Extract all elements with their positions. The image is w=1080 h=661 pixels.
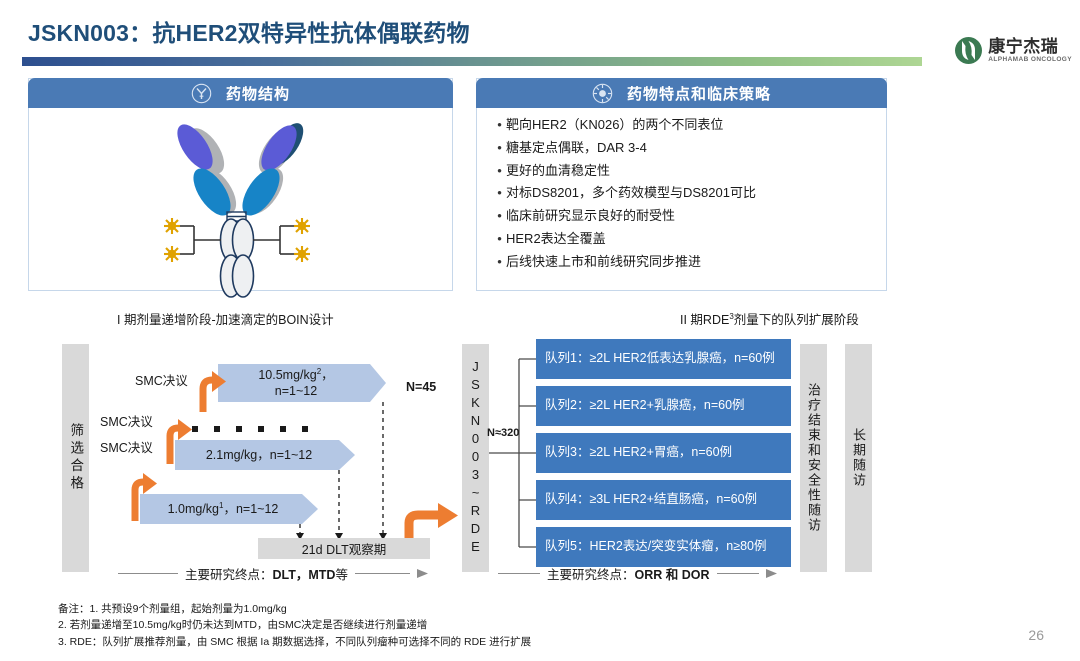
phase2-total-n: N≈320 xyxy=(487,427,519,439)
cohort-box-2: 队列2：≥2L HER2+乳腺癌，n=60例 xyxy=(536,386,791,426)
footnote-line: 3. RDE：队列扩展推荐剂量，由 SMC 根据 Ia 期数据选择，不同队列瘤种… xyxy=(58,634,531,650)
cohort-box-3: 队列3：≥2L HER2+胃癌，n=60例 xyxy=(536,433,791,473)
cohort-box-5: 队列5：HER2表达/突变实体瘤，n≥80例 xyxy=(536,527,791,567)
slide-root: JSKN003：抗HER2双特异性抗体偶联药物 康宁杰瑞 ALPHAMAB ON… xyxy=(0,0,1080,661)
endpoint-line-right xyxy=(355,573,410,574)
endpoint-bold: DLT，MTD xyxy=(273,568,336,582)
phase1-total-n: N=45 xyxy=(406,380,436,394)
phase2-endpoint-row: 主要研究终点：ORR 和 DOR xyxy=(498,564,777,583)
cohort-box-4: 队列4：≥3L HER2+结直肠癌，n=60例 xyxy=(536,480,791,520)
endpoint-line-right xyxy=(717,573,759,574)
phase2-endpoint-text: 主要研究终点：ORR 和 DOR xyxy=(547,564,710,583)
dlt-observation-box: 21d DLT观察期 xyxy=(258,538,430,559)
footnote-line: 备注：1. 共预设9个剂量组，起始剂量为1.0mg/kg xyxy=(58,601,531,617)
page-number: 26 xyxy=(1028,627,1044,643)
footnote-line: 2. 若剂量递增至10.5mg/kg时仍未达到MTD，由SMC决定是否继续进行剂… xyxy=(58,617,531,633)
endpoint-suffix: 等 xyxy=(335,568,348,582)
endpoint-arrow-icon xyxy=(417,569,428,578)
phase1-endpoint-row: 主要研究终点：DLT，MTD等 xyxy=(118,564,428,583)
endpoint-arrow-icon xyxy=(766,569,777,578)
endpoint-prefix: 主要研究终点： xyxy=(547,568,635,582)
endpoint-prefix: 主要研究终点： xyxy=(185,568,273,582)
cohort-box-1: 队列1：≥2L HER2低表达乳腺癌，n=60例 xyxy=(536,339,791,379)
endpoint-line-left xyxy=(498,573,540,574)
footnotes-block: 备注：1. 共预设9个剂量组，起始剂量为1.0mg/kg 2. 若剂量递增至10… xyxy=(58,601,531,650)
endpoint-bold: ORR 和 DOR xyxy=(635,568,710,582)
phase1-endpoint-text: 主要研究终点：DLT，MTD等 xyxy=(185,564,348,583)
endpoint-line-left xyxy=(118,573,178,574)
